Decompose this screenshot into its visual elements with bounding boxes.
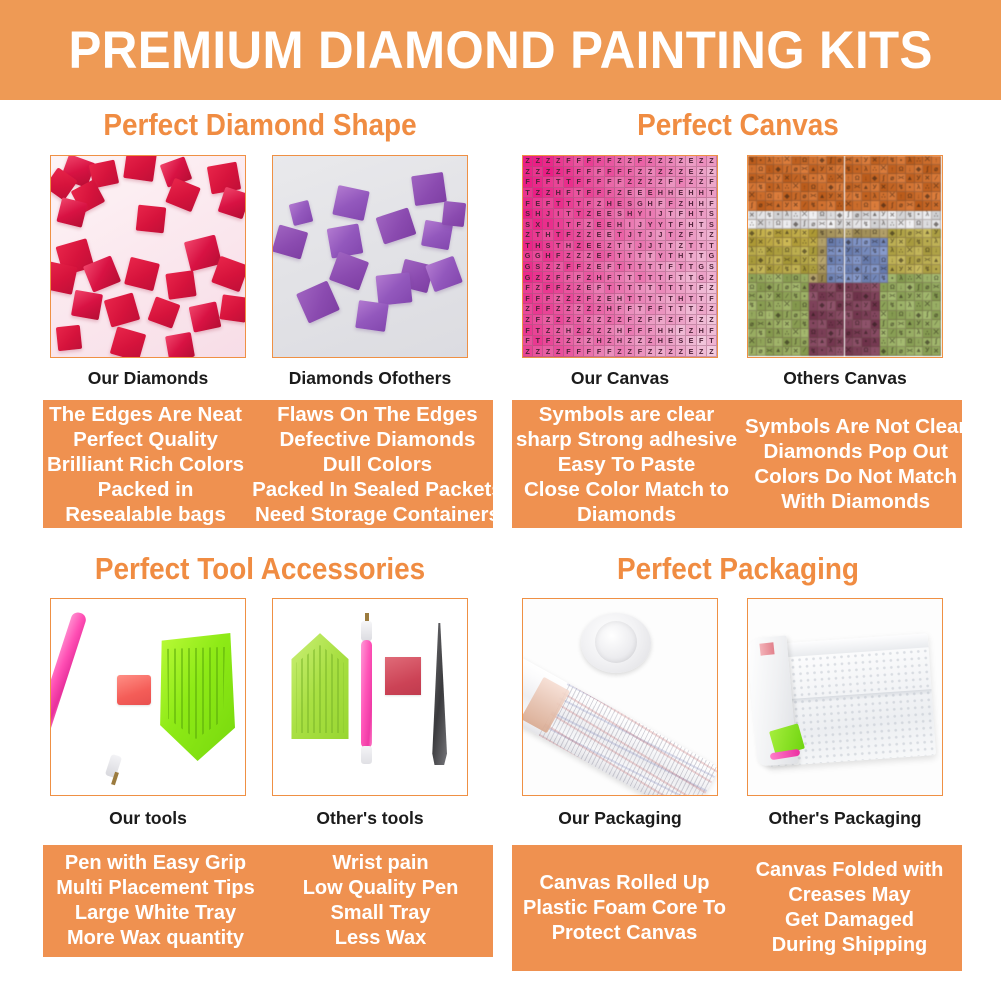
canvas-symbol-cell: Z [615, 346, 625, 357]
blurred-canvas-cell: ▲ [766, 320, 775, 329]
panel-line: Wrist pain [332, 851, 428, 876]
blurred-canvas-cell: ↑ [748, 311, 757, 320]
image-others-diamonds [272, 155, 468, 358]
blurred-canvas-cell: ✕ [809, 256, 818, 265]
canvas-symbol-cell: Z [523, 304, 533, 315]
blurred-canvas-cell: ✕ [801, 229, 810, 238]
blurred-canvas-cell: ↯ [923, 265, 932, 274]
canvas-symbol-cell: J [646, 230, 656, 241]
blurred-canvas-cell: ↑ [932, 156, 941, 165]
canvas-symbol-cell: H [615, 336, 625, 347]
blurred-canvas-cell: • [757, 156, 766, 165]
canvas-symbol-cell: Z [594, 198, 604, 209]
panel-line: Large White Tray [75, 901, 236, 926]
blurred-canvas-cell: ↑ [888, 165, 897, 174]
blurred-canvas-cell: • [809, 320, 818, 329]
canvas-symbol-cell: F [554, 272, 564, 283]
canvas-symbol-cell: T [686, 283, 696, 294]
purple-diamond-icon [442, 201, 466, 227]
blurred-canvas-cell: Ω [923, 247, 932, 256]
blurred-canvas-cell: λ [836, 229, 845, 238]
caption-others-canvas: Others Canvas [747, 368, 943, 389]
blurred-canvas-cell: ✕ [906, 265, 915, 274]
purple-diamond-icon [411, 172, 447, 206]
canvas-symbol-cell: Z [676, 230, 686, 241]
canvas-symbol-cell: F [543, 304, 553, 315]
blurred-canvas-cell: ∫ [862, 265, 871, 274]
blurred-canvas-cell: ∴ [836, 347, 845, 356]
canvas-symbol-cell: Y [656, 251, 666, 262]
canvas-symbol-cell: T [686, 304, 696, 315]
blurred-canvas-cell: ↑ [818, 238, 827, 247]
blurred-canvas-cell: Ω [853, 174, 862, 183]
blurred-canvas-cell: ⪥ [809, 338, 818, 347]
blurred-canvas-cell: ↑ [766, 220, 775, 229]
rolled-canvas-edge-icon [539, 683, 718, 796]
blurred-canvas-cell: Ω [853, 320, 862, 329]
blurred-canvas-cell: ↑ [845, 320, 854, 329]
canvas-symbol-cell: Z [605, 315, 615, 326]
blurred-canvas-cell: ⌀ [888, 174, 897, 183]
canvas-symbol-cell: Z [646, 167, 656, 178]
blurred-canvas-cell: Ω [748, 283, 757, 292]
canvas-symbol-cell: H [554, 188, 564, 199]
blurred-canvas-cell: ↓ [880, 229, 889, 238]
canvas-symbol-cell: F [605, 346, 615, 357]
blurred-canvas-cell: ✕ [836, 192, 845, 201]
canvas-symbol-cell: T [707, 336, 717, 347]
blurred-canvas-cell: λ [853, 283, 862, 292]
canvas-symbol-cell: Z [697, 167, 707, 178]
blurred-canvas-cell: ▲ [906, 174, 915, 183]
image-others-packaging [747, 598, 943, 796]
canvas-symbol-cell: Z [523, 167, 533, 178]
canvas-symbol-cell: Z [543, 346, 553, 357]
blurred-canvas-cell: λ [897, 274, 906, 283]
purple-diamond-icon [289, 200, 314, 226]
pen-tip-icon [361, 621, 372, 641]
blurred-canvas-cell: ↯ [836, 283, 845, 292]
blurred-canvas-cell: У [871, 183, 880, 192]
canvas-symbol-cell: I [554, 209, 564, 220]
canvas-symbol-cell: Z [625, 346, 635, 357]
blurred-canvas-cell: ⪥ [871, 238, 880, 247]
canvas-symbol-cell: S [625, 198, 635, 209]
canvas-symbol-cell: Z [523, 315, 533, 326]
blurred-canvas-cell: ⌀ [845, 329, 854, 338]
blurred-canvas-cell: λ [915, 183, 924, 192]
canvas-symbol-cell: H [656, 325, 666, 336]
canvas-symbol-cell: I [543, 219, 553, 230]
blurred-canvas-cell: У [818, 311, 827, 320]
blurred-canvas-cell: ⨉ [748, 192, 757, 201]
blurred-canvas-cell: ∫ [880, 174, 889, 183]
canvas-symbol-cell: Z [594, 304, 604, 315]
canvas-symbol-cell: Z [543, 325, 553, 336]
blurred-canvas-cell: ↯ [748, 301, 757, 310]
canvas-symbol-cell: T [615, 283, 625, 294]
canvas-symbol-cell: H [564, 325, 574, 336]
blurred-canvas-cell: Ω [792, 274, 801, 283]
canvas-symbol-cell: Z [676, 167, 686, 178]
canvas-symbol-cell: H [686, 209, 696, 220]
blurred-canvas-cell: У [862, 301, 871, 310]
canvas-symbol-cell: F [533, 304, 543, 315]
blurred-canvas-cell: ↯ [783, 265, 792, 274]
blurred-canvas-cell: λ [906, 156, 915, 165]
canvas-symbol-cell: T [523, 241, 533, 252]
blurred-canvas-cell: ▲ [792, 256, 801, 265]
blurred-canvas-cell: ⨉ [880, 311, 889, 320]
canvas-symbol-cell: T [666, 251, 676, 262]
blurred-canvas-cell: ↑ [906, 220, 915, 229]
blurred-canvas-cell: ◆ [897, 256, 906, 265]
pink-pen-icon [361, 640, 372, 748]
canvas-symbol-cell: H [676, 251, 686, 262]
canvas-symbol-cell: Z [686, 325, 696, 336]
blurred-canvas-cell: ↯ [888, 156, 897, 165]
blurred-canvas-cell: ✕ [827, 311, 836, 320]
canvas-symbol-cell: Z [635, 336, 645, 347]
blurred-canvas-cell: ⪥ [766, 201, 775, 210]
panel-tool-accessories: Pen with Easy Grip Multi Placement Tips … [43, 845, 493, 957]
blurred-canvas-cell: Ω [897, 311, 906, 320]
blurred-canvas-cell: ↯ [809, 347, 818, 356]
blurred-canvas-cell: ◆ [923, 338, 932, 347]
blurred-canvas-cell: ⌀ [809, 220, 818, 229]
canvas-symbol-cell: G [697, 272, 707, 283]
canvas-symbol-cell: Z [533, 188, 543, 199]
blurred-canvas-cell: ↓ [853, 292, 862, 301]
canvas-symbol-cell: F [646, 315, 656, 326]
canvas-symbol-cell: T [625, 251, 635, 262]
blurred-canvas-cell: ⁄ [809, 229, 818, 238]
canvas-symbol-cell: Z [554, 262, 564, 273]
canvas-symbol-cell: Z [625, 156, 635, 167]
blurred-canvas-cell: У [801, 256, 810, 265]
canvas-symbol-cell: E [635, 188, 645, 199]
blurred-canvas-cell: ⁄ [792, 320, 801, 329]
canvas-symbol-cell: F [594, 188, 604, 199]
blurred-canvas-cell: ✕ [880, 329, 889, 338]
blurred-canvas-cell: ↯ [748, 156, 757, 165]
blurred-canvas-cell: λ [818, 174, 827, 183]
panel-col-others-tools: Wrist pain Low Quality Pen Small Tray Le… [268, 845, 493, 957]
canvas-symbol-cell: F [523, 177, 533, 188]
section-title-canvas: Perfect Canvas [540, 107, 936, 143]
blurred-canvas-cell: ⌀ [923, 283, 932, 292]
blurred-canvas-cell: ⨉ [748, 338, 757, 347]
pink-pen-icon [50, 611, 88, 760]
blurred-canvas-cell: ⁄ [871, 274, 880, 283]
infographic-page: PREMIUM DIAMOND PAINTING KITS Perfect Di… [0, 0, 1001, 1001]
blurred-canvas-cell: ✕ [897, 238, 906, 247]
canvas-symbol-cell: T [656, 241, 666, 252]
blurred-canvas-cell: λ [801, 265, 810, 274]
blurred-canvas-cell: ◆ [836, 211, 845, 220]
canvas-symbol-cell: Z [554, 304, 564, 315]
red-diamond-icon [104, 292, 141, 327]
blurred-canvas-cell: ∴ [748, 220, 757, 229]
canvas-symbol-cell: Z [646, 156, 656, 167]
canvas-symbol-cell: E [605, 219, 615, 230]
blurred-canvas-cell: ▲ [862, 329, 871, 338]
blurred-canvas-cell: ⪥ [853, 329, 862, 338]
canvas-symbol-cell: Z [584, 315, 594, 326]
canvas-symbol-cell: T [666, 219, 676, 230]
canvas-symbol-cell: Z [676, 241, 686, 252]
blurred-canvas-cell: ◆ [827, 329, 836, 338]
canvas-symbol-cell: E [594, 241, 604, 252]
blurred-canvas-cell: ∫ [792, 192, 801, 201]
blurred-canvas-cell: ◆ [915, 311, 924, 320]
blurred-canvas-cell: ⌀ [836, 301, 845, 310]
canvas-symbol-cell: Z [584, 272, 594, 283]
blurred-canvas-cell: λ [923, 211, 932, 220]
canvas-symbol-cell: Z [697, 156, 707, 167]
blurred-canvas-cell: ◆ [766, 283, 775, 292]
blurred-canvas-cell: У [757, 265, 766, 274]
blurred-canvas-cell: ↓ [748, 256, 757, 265]
canvas-symbol-cell: Z [554, 325, 564, 336]
panel-line: Need Storage Containers [255, 502, 500, 527]
canvas-symbol-cell: F [584, 346, 594, 357]
blurred-canvas-cell: ⪥ [774, 229, 783, 238]
canvas-symbol-cell: T [686, 262, 696, 273]
canvas-symbol-cell: H [605, 304, 615, 315]
canvas-symbol-cell: F [666, 262, 676, 273]
canvas-symbol-cell: E [686, 346, 696, 357]
blurred-canvas-cell: • [880, 247, 889, 256]
blurred-canvas-cell: ⨉ [783, 156, 792, 165]
blurred-canvas-cell: ✕ [871, 301, 880, 310]
canvas-symbol-cell: H [686, 219, 696, 230]
blurred-canvas-cell: • [766, 183, 775, 192]
canvas-symbol-cell: T [625, 283, 635, 294]
canvas-symbol-cell: Z [625, 336, 635, 347]
blurred-canvas-cell: ⪥ [897, 320, 906, 329]
blurred-canvas-cell: ⁄ [880, 156, 889, 165]
blurred-canvas-cell: ⌀ [818, 247, 827, 256]
blurred-canvas-cell: У [888, 238, 897, 247]
canvas-symbol-cell: Z [564, 315, 574, 326]
canvas-symbol-cell: F [564, 188, 574, 199]
canvas-symbol-cell: S [707, 219, 717, 230]
canvas-symbol-cell: T [533, 325, 543, 336]
blurred-canvas-cell: ⌀ [748, 320, 757, 329]
blurred-canvas-cell: ⪥ [809, 192, 818, 201]
canvas-symbol-cell: Z [676, 198, 686, 209]
canvas-symbol-cell: F [635, 346, 645, 357]
blurred-canvas-cell: ✕ [748, 211, 757, 220]
panel-col-others-diamonds: Flaws On The Edges Defective Diamonds Du… [248, 400, 507, 528]
canvas-symbol-cell: Z [707, 272, 717, 283]
section-title-diamond-shape: Perfect Diamond Shape [67, 107, 454, 143]
blurred-canvas-cell: Ω [862, 347, 871, 356]
blurred-canvas-cell: ↑ [871, 256, 880, 265]
blurred-canvas-cell: λ [932, 238, 941, 247]
blurred-canvas-cell: ⪥ [906, 347, 915, 356]
contents-label-icon [759, 642, 774, 655]
canvas-symbol-cell: F [625, 304, 635, 315]
blurred-canvas-cell: ↓ [774, 338, 783, 347]
canvas-symbol-cell: X [533, 219, 543, 230]
blurred-canvas-cell: ✕ [862, 274, 871, 283]
panel-line: Less Wax [335, 926, 427, 951]
canvas-symbol-cell: S [543, 241, 553, 252]
canvas-symbol-cell: F [625, 315, 635, 326]
canvas-symbol-cell: Z [676, 156, 686, 167]
blurred-canvas-cell: ↓ [818, 329, 827, 338]
canvas-symbol-cell: Z [543, 262, 553, 273]
canvas-symbol-cell: F [564, 262, 574, 273]
blurred-canvas-cell: ↓ [871, 201, 880, 210]
panel-line: Low Quality Pen [303, 876, 459, 901]
canvas-symbol-cell: Z [574, 230, 584, 241]
canvas-symbol-cell: F [676, 315, 686, 326]
blurred-canvas-cell: ↯ [766, 211, 775, 220]
others-tools-scene [273, 599, 467, 795]
canvas-symbol-cell: T [574, 209, 584, 220]
canvas-symbol-cell: Z [697, 304, 707, 315]
blurred-canvas-cell: λ [827, 347, 836, 356]
panel-line: Close Color Match to [524, 477, 729, 502]
blurred-canvas-cell: ↑ [757, 192, 766, 201]
blurred-canvas-cell: Ω [801, 301, 810, 310]
blurred-canvas-cell: ▲ [853, 301, 862, 310]
canvas-symbol-cell: Z [676, 346, 686, 357]
blurred-canvas-cell: ▲ [915, 201, 924, 210]
blurred-canvas-cell: ↑ [923, 274, 932, 283]
blurred-canvas-cell: ⪥ [915, 229, 924, 238]
blurred-canvas-cell: λ [888, 247, 897, 256]
blurred-canvas-cell: ⪥ [897, 174, 906, 183]
canvas-symbol-cell: H [697, 198, 707, 209]
canvas-symbol-cell: F [533, 177, 543, 188]
canvas-symbol-cell: E [646, 188, 656, 199]
blurred-canvas-cell: • [906, 329, 915, 338]
blurred-canvas-cell: ⁄ [845, 338, 854, 347]
canvas-symbol-cell: F [584, 198, 594, 209]
canvas-symbol-cell: F [574, 219, 584, 230]
blurred-canvas-cell: ↓ [897, 283, 906, 292]
canvas-symbol-cell: T [564, 177, 574, 188]
blurred-canvas-cell: ↓ [809, 156, 818, 165]
blurred-canvas-cell: У [915, 320, 924, 329]
canvas-symbol-cell: G [697, 262, 707, 273]
red-diamond-icon [165, 270, 196, 300]
blurred-canvas-cell: ⁄ [906, 238, 915, 247]
blurred-canvas-cell: ⪥ [906, 201, 915, 210]
blurred-canvas-cell: ⁄ [836, 165, 845, 174]
blurred-canvas-cell: ↯ [801, 320, 810, 329]
canvas-symbol-cell: E [605, 209, 615, 220]
blurred-canvas-cell: У [897, 265, 906, 274]
blurred-canvas-cell: ◆ [923, 192, 932, 201]
blurred-canvas-cell: Ω [809, 329, 818, 338]
blurred-canvas-cell: • [827, 229, 836, 238]
canvas-symbol-cell: F [584, 156, 594, 167]
blurred-canvas-cell: ⨉ [888, 192, 897, 201]
blurred-canvas-cell: Ω [801, 156, 810, 165]
canvas-symbol-cell: T [554, 198, 564, 209]
blurred-canvas-cell: Ω [818, 211, 827, 220]
canvas-symbol-cell: Z [554, 167, 564, 178]
blurred-canvas-cell: Ω [757, 311, 766, 320]
blurred-canvas-cell: ▲ [862, 183, 871, 192]
canvas-symbol-cell: Z [543, 167, 553, 178]
section-title-tool-accessories: Perfect Tool Accessories [67, 551, 454, 587]
panel-col-others-canvas: Symbols Are Not Clear Diamonds Pop Out C… [741, 400, 970, 528]
canvas-symbol-cell: Z [584, 304, 594, 315]
canvas-symbol-cell: H [676, 294, 686, 305]
blurred-canvas-cell: ◆ [906, 283, 915, 292]
blurred-canvas-cell: ⌀ [862, 238, 871, 247]
blurred-canvas-cell: λ [906, 301, 915, 310]
blurred-canvas-cell: ↑ [880, 283, 889, 292]
canvas-symbol-cell: G [523, 272, 533, 283]
blurred-canvas-cell: ↯ [792, 292, 801, 301]
blurred-canvas-cell: • [923, 238, 932, 247]
blurred-canvas-cell: ↓ [792, 247, 801, 256]
canvas-symbol-cell: T [666, 283, 676, 294]
blurred-canvas-cell: ∫ [809, 247, 818, 256]
blurred-canvas-cell: У [853, 274, 862, 283]
blurred-canvas-cell: ⌀ [801, 192, 810, 201]
canvas-symbol-cell: T [554, 230, 564, 241]
purple-diamond-icon [296, 280, 340, 323]
canvas-symbol-cell: Z [554, 156, 564, 167]
blurred-canvas-cell: ⨉ [888, 338, 897, 347]
blurred-canvas-cell: ∫ [888, 201, 897, 210]
blurred-canvas-cell: ↯ [862, 220, 871, 229]
blurred-canvas-cell: Ω [932, 274, 941, 283]
blurred-canvas-cell: ▲ [915, 347, 924, 356]
red-diamonds-scene [51, 156, 245, 357]
canvas-symbol-cell: F [635, 325, 645, 336]
panel-line: Perfect Quality [73, 427, 218, 452]
canvas-symbol-cell: Z [615, 315, 625, 326]
canvas-symbol-cell: F [605, 177, 615, 188]
canvas-symbol-cell: Z [554, 315, 564, 326]
canvas-symbol-cell: Z [697, 346, 707, 357]
canvas-symbol-cell: F [584, 167, 594, 178]
caption-others-packaging: Other's Packaging [747, 808, 943, 829]
canvas-symbol-cell: F [594, 156, 604, 167]
canvas-symbol-cell: Z [543, 272, 553, 283]
blurred-canvas-cell: ↓ [836, 238, 845, 247]
blurred-canvas-cell: ✕ [871, 156, 880, 165]
canvas-symbol-cell: F [564, 272, 574, 283]
our-tools-scene [51, 599, 245, 795]
canvas-symbol-cell: F [594, 283, 604, 294]
blurred-canvas-cell: У [783, 201, 792, 210]
blurred-canvas-cell: ⁄ [880, 301, 889, 310]
blurred-canvas-cell: ⨉ [801, 211, 810, 220]
canvas-symbol-cell: F [594, 167, 604, 178]
panel-line: Brilliant Rich Colors [47, 452, 244, 477]
canvas-symbol-cell: F [584, 188, 594, 199]
blurred-canvas-cell: ⨉ [906, 247, 915, 256]
blurred-canvas-cell: ∫ [783, 311, 792, 320]
blurred-canvas-cell: ↑ [897, 192, 906, 201]
blurred-canvas-cell: ↯ [801, 174, 810, 183]
canvas-symbol-cell: F [543, 283, 553, 294]
blurred-canvas-cell: ⪥ [880, 265, 889, 274]
blurred-canvas-cell: ▲ [853, 156, 862, 165]
canvas-symbol-cell: F [554, 283, 564, 294]
blurred-canvas-cell: ↓ [827, 211, 836, 220]
